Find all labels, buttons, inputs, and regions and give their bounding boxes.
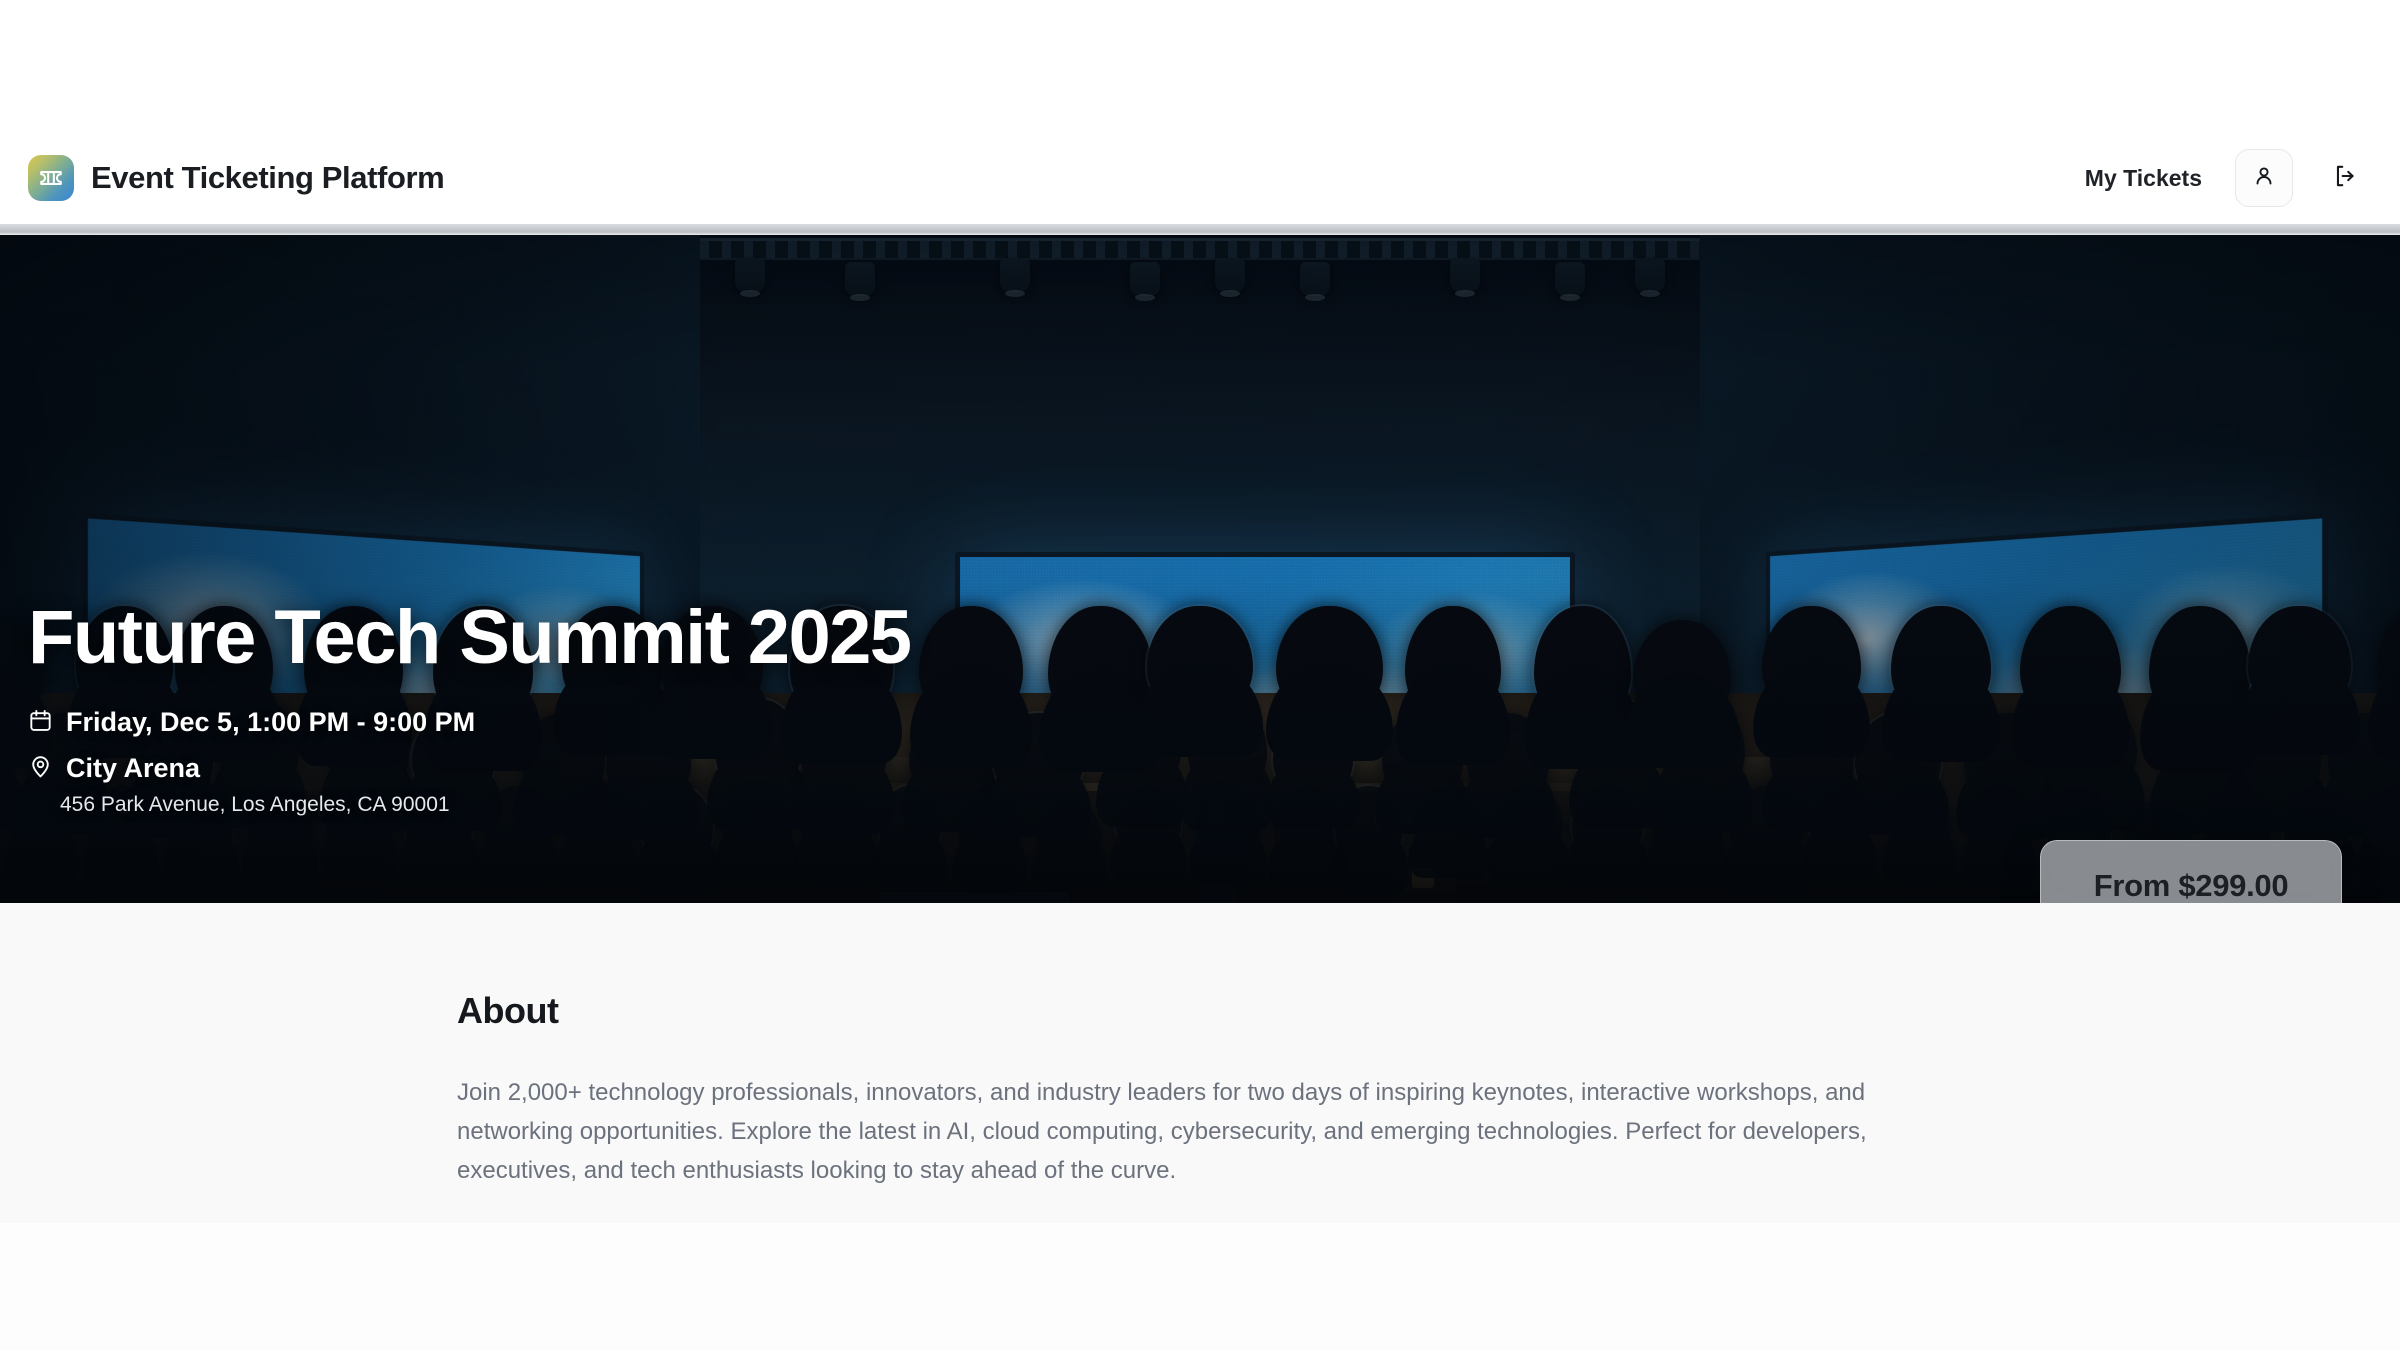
audience-head — [1762, 606, 1861, 713]
event-address: 456 Park Avenue, Los Angeles, CA 90001 — [60, 793, 910, 817]
ticket-purchase-card: From $299.00 Get Tickets — [2040, 840, 2342, 903]
audience-head — [1147, 606, 1253, 712]
audience-head — [1405, 606, 1501, 718]
audience-head — [1276, 606, 1383, 715]
audience-head — [2149, 606, 2251, 722]
calendar-icon — [28, 708, 53, 738]
audience-head — [919, 606, 1023, 720]
audience-head — [1891, 606, 1991, 716]
event-venue: City Arena — [28, 753, 910, 784]
event-venue-name: City Arena — [66, 753, 200, 784]
hero-text-block: Future Tech Summit 2025 Friday, Dec 5, 1… — [28, 600, 910, 817]
brand-title: Event Ticketing Platform — [91, 160, 444, 196]
nav-my-tickets[interactable]: My Tickets — [2081, 157, 2206, 200]
page-bottom-area — [0, 1223, 2400, 1350]
logout-button[interactable] — [2322, 155, 2368, 201]
logout-icon — [2332, 163, 2358, 194]
about-section: About Join 2,000+ technology professiona… — [0, 903, 2400, 1223]
about-heading: About — [457, 990, 1927, 1032]
about-body: Join 2,000+ technology professionals, in… — [457, 1074, 1904, 1191]
audience-head — [2377, 606, 2400, 714]
audience-head — [1633, 620, 1731, 724]
hero-banner: Future Tech Summit 2025 Friday, Dec 5, 1… — [0, 232, 2400, 903]
user-icon — [2252, 164, 2276, 193]
audience-head — [2248, 606, 2351, 711]
ticket-icon — [28, 155, 74, 201]
brand[interactable]: Event Ticketing Platform — [28, 155, 444, 201]
audience-head — [1048, 606, 1153, 723]
event-datetime-text: Friday, Dec 5, 1:00 PM - 9:00 PM — [66, 707, 475, 738]
page-top-spacer — [0, 0, 2400, 132]
ticket-price-label: From $299.00 — [2094, 868, 2289, 903]
audience-head — [2020, 606, 2121, 719]
audience-head — [1534, 606, 1631, 721]
event-datetime: Friday, Dec 5, 1:00 PM - 9:00 PM — [28, 707, 910, 738]
map-pin-icon — [28, 754, 53, 784]
event-detail-page: Event Ticketing Platform My Tickets — [0, 0, 2400, 1350]
header-actions: My Tickets — [2081, 149, 2368, 207]
account-button[interactable] — [2235, 149, 2293, 207]
site-header: Event Ticketing Platform My Tickets — [0, 132, 2400, 224]
page-title: Future Tech Summit 2025 — [28, 600, 910, 676]
